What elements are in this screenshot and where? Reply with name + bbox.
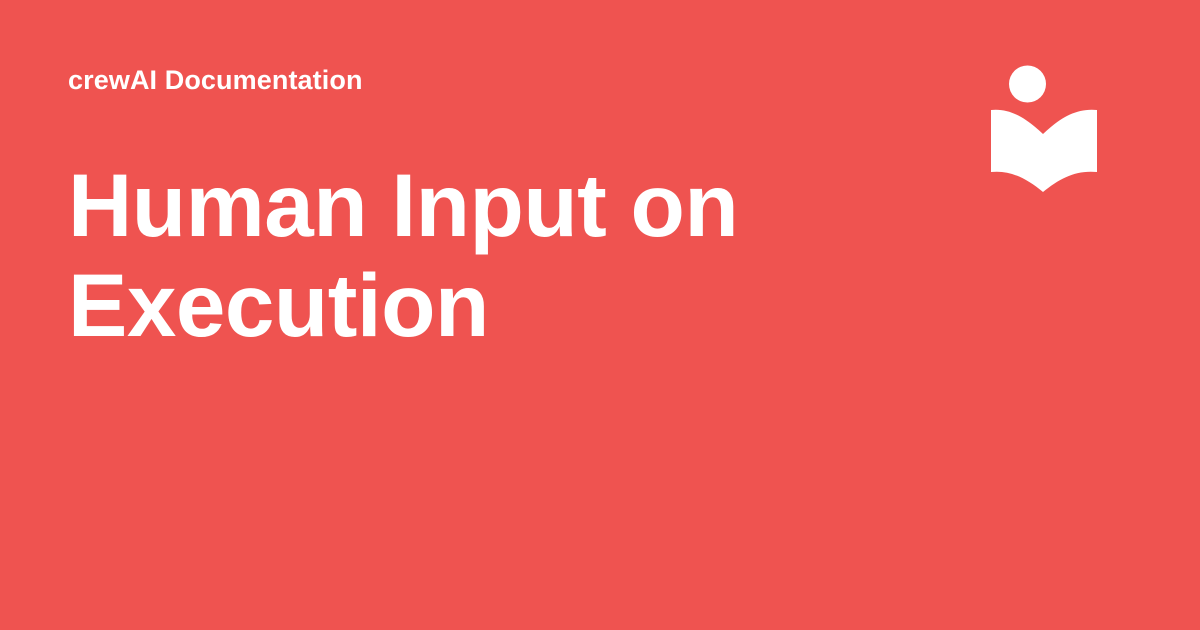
open-book-reader-icon [988,62,1100,194]
page-title: Human Input on Execution [68,155,768,355]
og-preview-card: crewAI Documentation Human Input on Exec… [0,0,1200,630]
card-text-block: crewAI Documentation Human Input on Exec… [68,60,888,415]
site-name-label: crewAI Documentation [68,60,888,101]
